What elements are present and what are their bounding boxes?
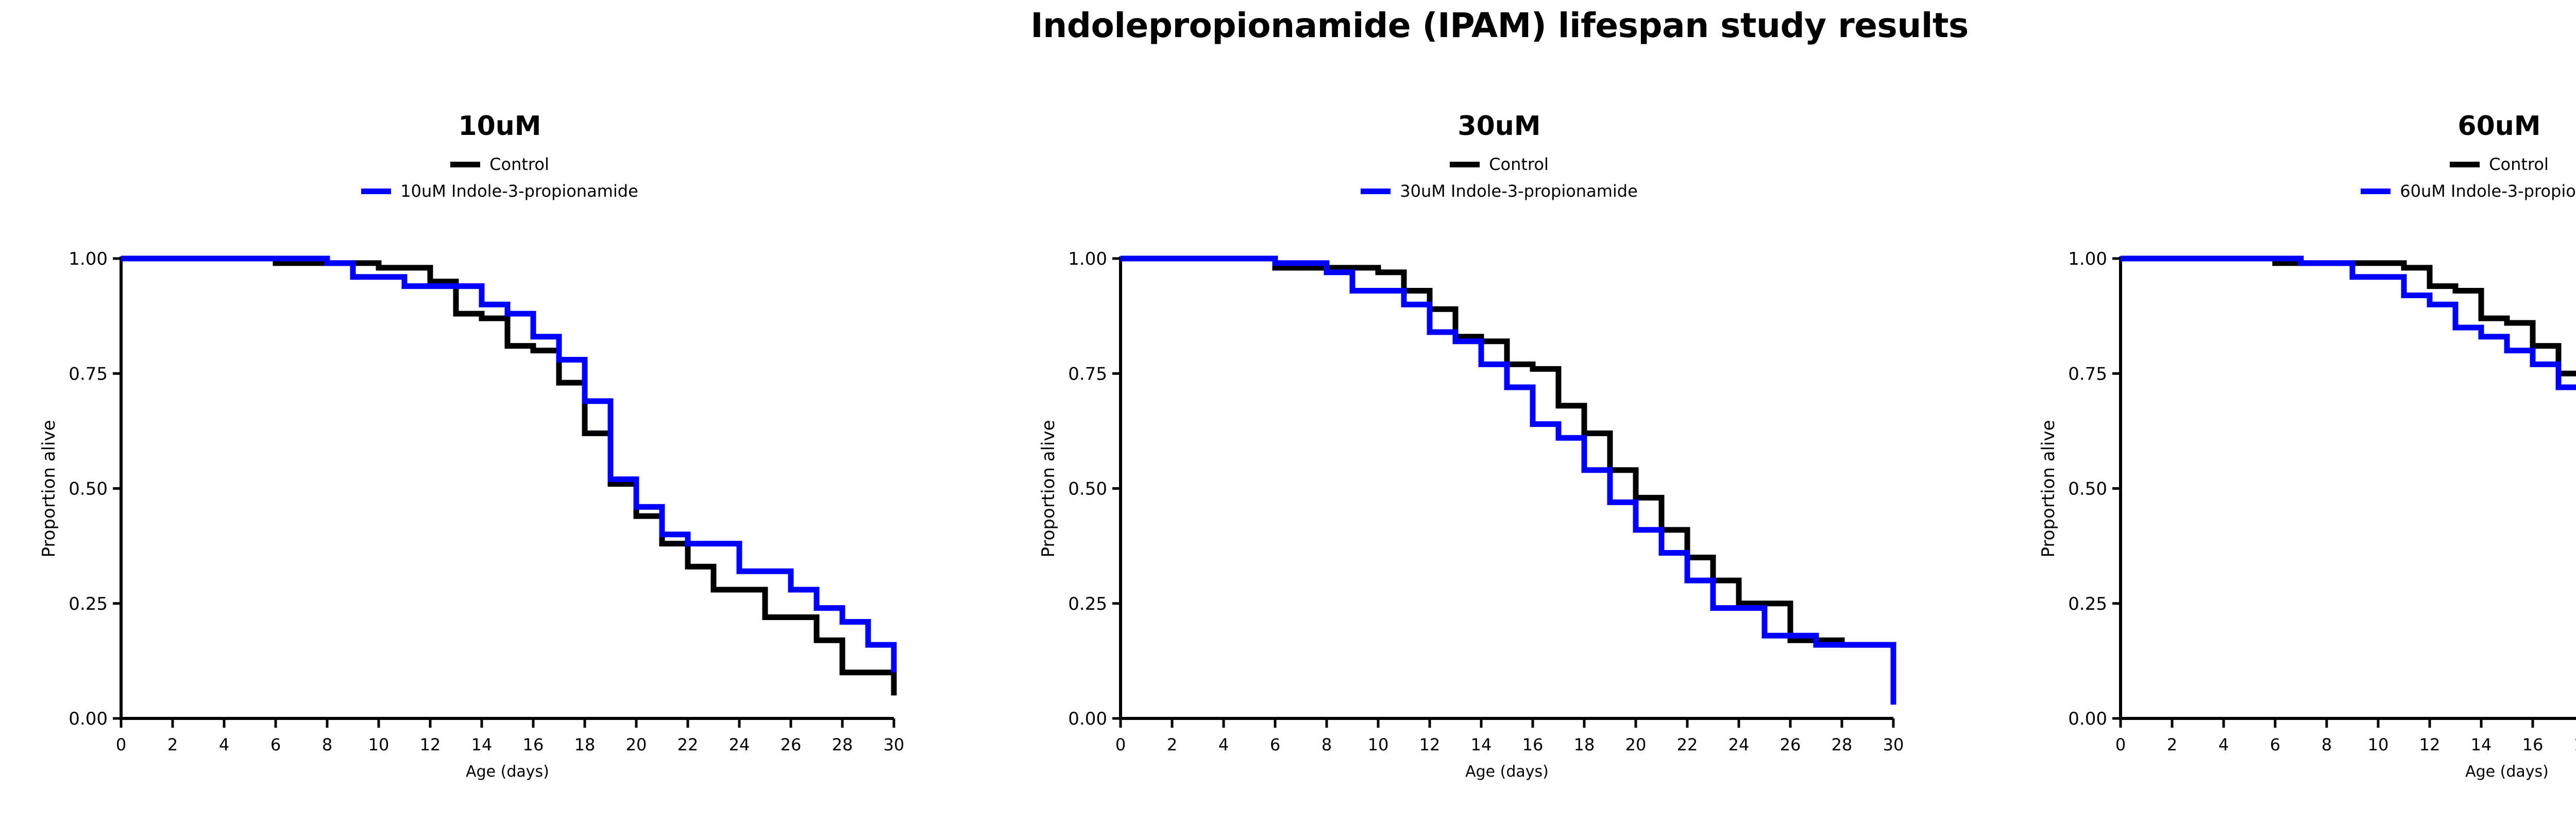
x-tick-label: 4 bbox=[2218, 735, 2229, 754]
x-tick-label: 24 bbox=[1728, 735, 1750, 754]
x-tick-label: 22 bbox=[677, 735, 699, 754]
x-tick-label: 2 bbox=[167, 735, 178, 754]
x-tick-label: 12 bbox=[1419, 735, 1440, 754]
x-tick-label: 8 bbox=[2321, 735, 2332, 754]
y-tick-label: 0.75 bbox=[2068, 364, 2107, 384]
x-tick-label: 16 bbox=[523, 735, 544, 754]
y-tick-label: 1.00 bbox=[69, 249, 108, 269]
panel-30um: 30uM Control 30uM Indole-3-propionamide … bbox=[999, 0, 1999, 824]
survival-curve-control bbox=[1121, 259, 1893, 695]
x-tick-label: 16 bbox=[1522, 735, 1544, 754]
y-tick-label: 1.00 bbox=[1068, 249, 1107, 269]
panel-60um: 60uM Control 60uM Indole-3-propionamide … bbox=[1999, 0, 2576, 824]
x-tick-label: 14 bbox=[2471, 735, 2492, 754]
x-tick-label: 4 bbox=[1218, 735, 1229, 754]
x-tick-label: 2 bbox=[2167, 735, 2177, 754]
panel-10um: 10uM Control 10uM Indole-3-propionamide … bbox=[0, 0, 999, 824]
y-tick-label: 0.75 bbox=[1068, 364, 1107, 384]
x-axis-label: Age (days) bbox=[121, 763, 894, 781]
y-tick-label: 0.00 bbox=[1068, 709, 1107, 729]
x-tick-label: 24 bbox=[729, 735, 750, 754]
x-tick-label: 2 bbox=[1167, 735, 1177, 754]
x-tick-label: 20 bbox=[626, 735, 647, 754]
y-tick-label: 0.50 bbox=[69, 479, 108, 500]
x-tick-label: 10 bbox=[368, 735, 389, 754]
y-tick-label: 0.00 bbox=[69, 709, 108, 729]
y-tick-label: 0.50 bbox=[1068, 479, 1107, 500]
x-tick-label: 26 bbox=[1780, 735, 1801, 754]
x-tick-label: 0 bbox=[116, 735, 126, 754]
plot-area: 0.000.250.500.751.0002468101214161820222… bbox=[1999, 0, 2576, 824]
x-tick-label: 16 bbox=[2522, 735, 2544, 754]
x-tick-label: 8 bbox=[322, 735, 332, 754]
x-tick-label: 0 bbox=[1115, 735, 1126, 754]
y-axis-label: Proportion alive bbox=[2038, 420, 2059, 557]
figure-root: Indolepropionamide (IPAM) lifespan study… bbox=[0, 0, 2576, 824]
survival-curve-control bbox=[121, 259, 894, 695]
plot-svg: 0.000.250.500.751.0002468101214161820222… bbox=[0, 0, 999, 824]
y-tick-label: 0.75 bbox=[69, 364, 108, 384]
y-axis-label: Proportion alive bbox=[39, 420, 59, 557]
x-tick-label: 0 bbox=[2115, 735, 2126, 754]
y-tick-label: 0.25 bbox=[1068, 594, 1107, 614]
x-tick-label: 30 bbox=[884, 735, 905, 754]
y-tick-label: 0.50 bbox=[2068, 479, 2107, 500]
x-axis-label: Age (days) bbox=[1121, 763, 1893, 781]
x-axis-label: Age (days) bbox=[2121, 763, 2576, 781]
x-tick-label: 14 bbox=[1471, 735, 1492, 754]
x-tick-label: 28 bbox=[832, 735, 853, 754]
x-tick-label: 18 bbox=[574, 735, 596, 754]
x-tick-label: 6 bbox=[1270, 735, 1280, 754]
x-tick-label: 28 bbox=[1832, 735, 1853, 754]
y-axis-label: Proportion alive bbox=[1038, 420, 1059, 557]
x-tick-label: 8 bbox=[1321, 735, 1332, 754]
x-tick-label: 18 bbox=[1574, 735, 1595, 754]
survival-curve-control bbox=[2121, 259, 2576, 700]
x-tick-label: 18 bbox=[2574, 735, 2576, 754]
x-tick-label: 10 bbox=[1368, 735, 1389, 754]
y-tick-label: 0.00 bbox=[2068, 709, 2107, 729]
x-tick-label: 4 bbox=[219, 735, 229, 754]
x-tick-label: 6 bbox=[2270, 735, 2280, 754]
plot-svg: 0.000.250.500.751.0002468101214161820222… bbox=[1999, 0, 2576, 824]
y-tick-label: 0.25 bbox=[2068, 594, 2107, 614]
x-tick-label: 12 bbox=[2419, 735, 2441, 754]
x-tick-label: 26 bbox=[781, 735, 802, 754]
plot-area: 0.000.250.500.751.0002468101214161820222… bbox=[0, 0, 999, 824]
x-tick-label: 12 bbox=[420, 735, 441, 754]
y-tick-label: 0.25 bbox=[69, 594, 108, 614]
x-tick-label: 30 bbox=[1883, 735, 1904, 754]
x-tick-label: 14 bbox=[471, 735, 493, 754]
survival-curve-treatment bbox=[1121, 259, 1893, 705]
x-tick-label: 10 bbox=[2368, 735, 2389, 754]
x-tick-label: 22 bbox=[1677, 735, 1698, 754]
plot-area: 0.000.250.500.751.0002468101214161820222… bbox=[999, 0, 1999, 824]
y-tick-label: 1.00 bbox=[2068, 249, 2107, 269]
x-tick-label: 20 bbox=[1625, 735, 1647, 754]
plot-svg: 0.000.250.500.751.0002468101214161820222… bbox=[999, 0, 1999, 824]
x-tick-label: 6 bbox=[270, 735, 281, 754]
